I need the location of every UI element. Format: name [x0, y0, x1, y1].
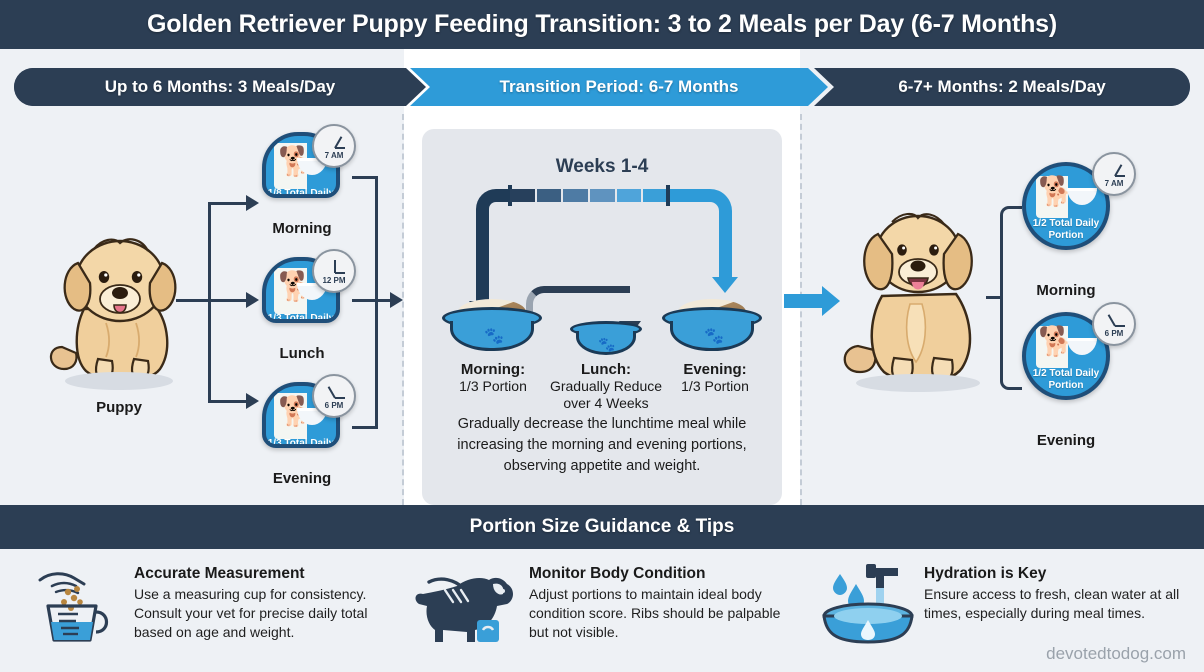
page-title: Golden Retriever Puppy Feeding Transitio…: [147, 10, 1057, 39]
divider-left: [402, 114, 404, 505]
title-bar: Golden Retriever Puppy Feeding Transitio…: [0, 0, 1204, 49]
meal-label-evening-right: Evening: [1008, 432, 1124, 449]
divider-right: [800, 114, 802, 505]
clock-icon-evening-right: 6 PM: [1092, 302, 1136, 346]
tips-header-bar: Portion Size Guidance & Tips: [0, 505, 1204, 549]
clock-icon-evening-left: 6 PM: [312, 374, 356, 418]
bowl-morning: 🐾: [442, 299, 542, 359]
transition-note: Gradually decrease the lunchtime meal wh…: [440, 414, 764, 477]
meal-label-morning-right: Morning: [1008, 282, 1124, 299]
clock-icon-morning-left: 7 AM: [312, 124, 356, 168]
tip-title: Accurate Measurement: [134, 565, 391, 583]
measuring-cup-icon: [30, 561, 134, 647]
badge-portion-text: 1/2 Total Daily Portion: [1026, 368, 1106, 392]
timeline-down-dark: [476, 229, 489, 307]
clock-icon-morning-right: 7 AM: [1092, 152, 1136, 196]
timeline-elbow-blue: [670, 189, 732, 279]
tip-title: Monitor Body Condition: [529, 565, 792, 583]
tip-text: Adjust portions to maintain ideal body c…: [529, 585, 792, 642]
badge-portion-text: 1/2 Total Daily Portion: [1026, 218, 1106, 242]
clock-icon-lunch-left: 12 PM: [312, 249, 356, 293]
badge-portion-text: 1/3 Total Daily Portion: [266, 313, 336, 323]
timeline-bar: [510, 189, 670, 202]
arrow-to-adult-stage: [784, 294, 822, 308]
tip-monitor-body-condition: Monitor Body Condition Adjust portions t…: [401, 549, 802, 672]
stage-chip-label: 6-7+ Months: 2 Meals/Day: [898, 77, 1105, 97]
puppy-shadow: [65, 372, 173, 390]
stage-chip-up-to-6-months[interactable]: Up to 6 Months: 3 Meals/Day: [14, 68, 426, 106]
tip-title: Hydration is Key: [924, 565, 1193, 583]
transition-card: Weeks 1-4 🐾 Morning: 1/3 Por: [422, 129, 782, 505]
puppy-label: Puppy: [44, 399, 194, 416]
meal-label-morning-left: Morning: [248, 220, 356, 237]
meal-label-evening-left: Evening: [248, 470, 356, 487]
tips-header-title: Portion Size Guidance & Tips: [470, 516, 735, 538]
bowl-label-lunch: Lunch: Gradually Reduce over 4 Weeks: [540, 361, 672, 412]
bowl-label-morning: Morning: 1/3 Portion: [430, 361, 556, 395]
weeks-title: Weeks 1-4: [422, 156, 782, 178]
adult-dog-shadow: [856, 374, 980, 392]
bowl-label-evening: Evening: 1/3 Portion: [654, 361, 776, 395]
badge-portion-text: 1/8 Total Daily Portion: [266, 188, 336, 198]
tips-row: Accurate Measurement Use a measuring cup…: [0, 549, 1204, 672]
puppy-illustration: Puppy: [44, 219, 194, 394]
watermark: devotedtodog.com: [1046, 644, 1186, 664]
paw-print-icon: 🐾: [598, 337, 615, 351]
timeline-arrow-blue: [712, 277, 738, 293]
tip-accurate-measurement: Accurate Measurement Use a measuring cup…: [0, 549, 401, 672]
adult-dog-illustration: [838, 196, 998, 396]
stage-chip-transition-period[interactable]: Transition Period: 6-7 Months: [410, 68, 828, 106]
paw-print-icon: 🐾: [704, 329, 724, 345]
water-bowl-faucet-icon: [812, 561, 924, 647]
dog-body-condition-icon: [411, 561, 529, 647]
tip-text: Use a measuring cup for consistency. Con…: [134, 585, 391, 642]
badge-portion-text: 1/3 Total Daily Portion: [266, 438, 336, 448]
bowl-evening: 🐾: [662, 299, 762, 359]
meal-label-lunch-left: Lunch: [248, 345, 356, 362]
adult-dog-icon: [838, 196, 998, 396]
bowl-lunch: 🐾: [570, 321, 642, 363]
tip-text: Ensure access to fresh, clean water at a…: [924, 585, 1193, 623]
stage-chip-label: Up to 6 Months: 3 Meals/Day: [105, 77, 335, 97]
paw-print-icon: 🐾: [484, 329, 504, 345]
stage-chip-6-7-plus-months[interactable]: 6-7+ Months: 2 Meals/Day: [814, 68, 1190, 106]
stage-banner: Up to 6 Months: 3 Meals/Day Transition P…: [14, 68, 1190, 106]
main-diagram: Puppy 🐕 1/8 Total Daily Portion 7 AM Mor…: [0, 114, 1204, 505]
stage-chip-label: Transition Period: 6-7 Months: [500, 77, 739, 97]
puppy-icon: [44, 219, 194, 394]
